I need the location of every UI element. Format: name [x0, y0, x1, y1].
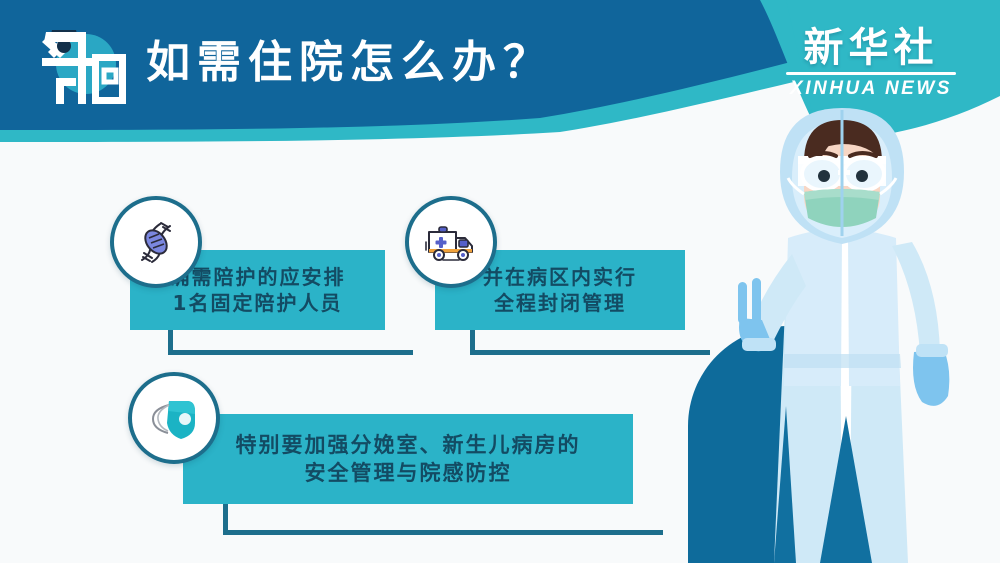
card-body: 特别要加强分娩室、新生儿病房的 安全管理与院感防控: [183, 414, 633, 504]
info-card-1[interactable]: 确需陪护的应安排 1名固定陪护人员: [110, 196, 410, 346]
ambulance-icon: [405, 196, 497, 288]
medical-worker-illustration: [700, 86, 1000, 563]
info-card-2[interactable]: 并在病区内实行 全程封闭管理: [400, 196, 700, 346]
info-card-3[interactable]: 特别要加强分娩室、新生儿病房的 安全管理与院感防控: [128, 372, 648, 522]
card-text: 并在病区内实行 全程封闭管理: [483, 264, 637, 316]
kepu-logo: [36, 24, 130, 112]
card-text: 特别要加强分娩室、新生儿病房的 安全管理与院感防控: [236, 431, 581, 487]
card-text-line: 安全管理与院感防控: [236, 459, 581, 487]
card-text: 确需陪护的应安排 1名固定陪护人员: [170, 264, 346, 316]
card-text-line: 特别要加强分娩室、新生儿病房的: [236, 431, 581, 459]
card-text-line: 并在病区内实行: [483, 264, 637, 290]
infographic-poster: 如需住院怎么办？ 新华社 XINHUA NEWS: [0, 0, 1000, 563]
xinhua-logo-cn: 新华社: [778, 26, 964, 70]
xinhua-logo-rule: [786, 72, 956, 75]
card-text-line: 全程封闭管理: [483, 290, 637, 316]
card-text-line: 1名固定陪护人员: [170, 290, 346, 316]
dna-helix-icon: [110, 196, 202, 288]
n95-mask-icon: [128, 372, 220, 464]
page-title: 如需住院怎么办？: [146, 32, 554, 94]
card-text-line: 确需陪护的应安排: [170, 264, 346, 290]
